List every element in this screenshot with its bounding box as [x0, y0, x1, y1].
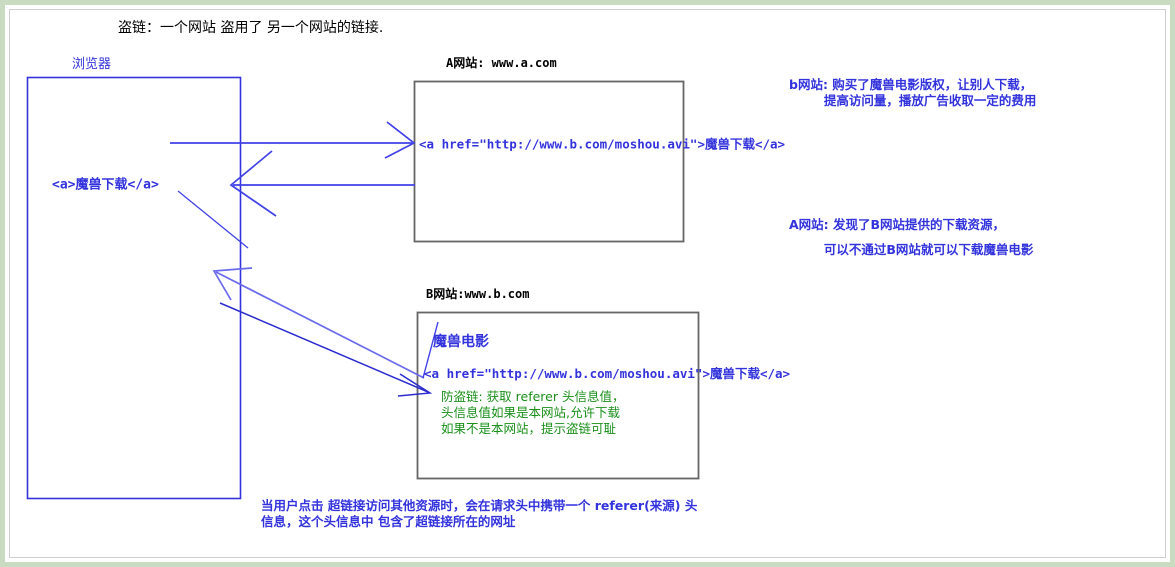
browser-label: 浏览器 — [72, 57, 111, 72]
arrow-site-a-to-browser — [231, 151, 415, 216]
browser-window-box — [28, 78, 241, 499]
site-a-box — [415, 82, 684, 242]
annotation-referer-footer: 当用户点击 超链接访问其他资源时，会在请求头中携带一个 referer(来源) … — [261, 498, 697, 531]
page-title: 盗链：一个网站 盗用了 另一个网站的链接. — [118, 20, 383, 37]
site-a-anchor-code: <a href="http://www.b.com/moshou.avi">魔兽… — [419, 138, 785, 153]
diagram-canvas: 盗链：一个网站 盗用了 另一个网站的链接. 浏览器 <a>魔兽下载</a> A网… — [0, 0, 1175, 567]
annotation-a-site: A网站: 发现了B网站提供的下载资源， 可以不通过B网站就可以下载魔兽电影 — [789, 212, 1033, 262]
browser-anchor-text[interactable]: <a>魔兽下载</a> — [52, 177, 159, 192]
arrow-browser-link-connector — [178, 191, 248, 248]
arrow-browser-to-site-a — [170, 122, 414, 158]
site-b-antileech-note: 防盗链: 获取 referer 头信息值， 头信息值如果是本网站,允许下载 如果… — [441, 389, 624, 437]
site-b-label: B网站:www.b.com — [426, 287, 529, 301]
annotation-b-site: b网站: 购买了魔兽电影版权，让别人下载， 提高访问量，播放广告收取一定的费用 — [789, 77, 1036, 110]
site-b-anchor-code: <a href="http://www.b.com/moshou.avi">魔兽… — [424, 367, 790, 382]
arrow-site-b-to-browser — [214, 268, 424, 378]
arrow-browser-to-site-b — [220, 303, 430, 396]
site-a-label: A网站: www.a.com — [446, 56, 557, 70]
site-b-heading: 魔兽电影 — [433, 334, 489, 351]
